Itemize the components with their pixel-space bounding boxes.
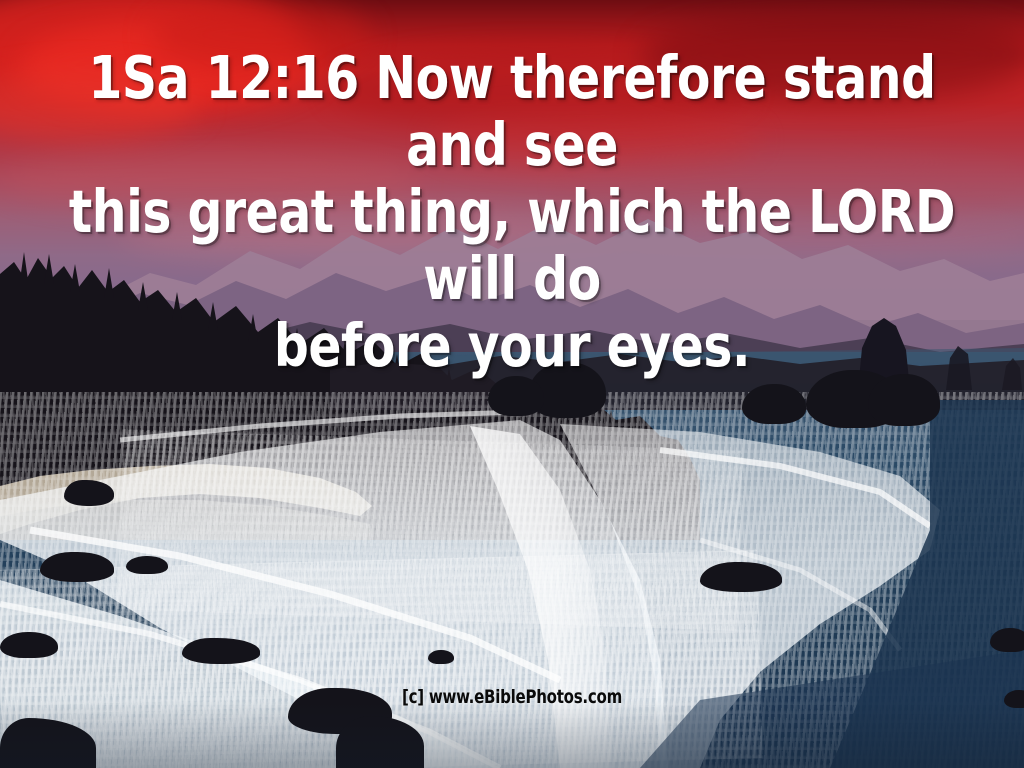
shore-rock (40, 552, 114, 582)
verse-image-canvas: 1Sa 12:16 Now therefore stand and see th… (0, 0, 1024, 768)
shore-rock (64, 480, 114, 506)
bottom-vignette (0, 700, 1024, 768)
shore-rock (182, 638, 260, 664)
verse-text: 1Sa 12:16 Now therefore stand and see th… (41, 44, 983, 379)
sea-rock (742, 384, 806, 424)
sea-rock (868, 374, 940, 426)
shore-rock (0, 632, 58, 658)
foreground-rock (700, 562, 782, 592)
foreground-rock (990, 628, 1024, 652)
sea-rock (488, 376, 544, 416)
watermark-credit: [c] www.eBiblePhotos.com (61, 687, 962, 707)
shore-rock (126, 556, 168, 574)
foreground-rock (428, 650, 454, 664)
